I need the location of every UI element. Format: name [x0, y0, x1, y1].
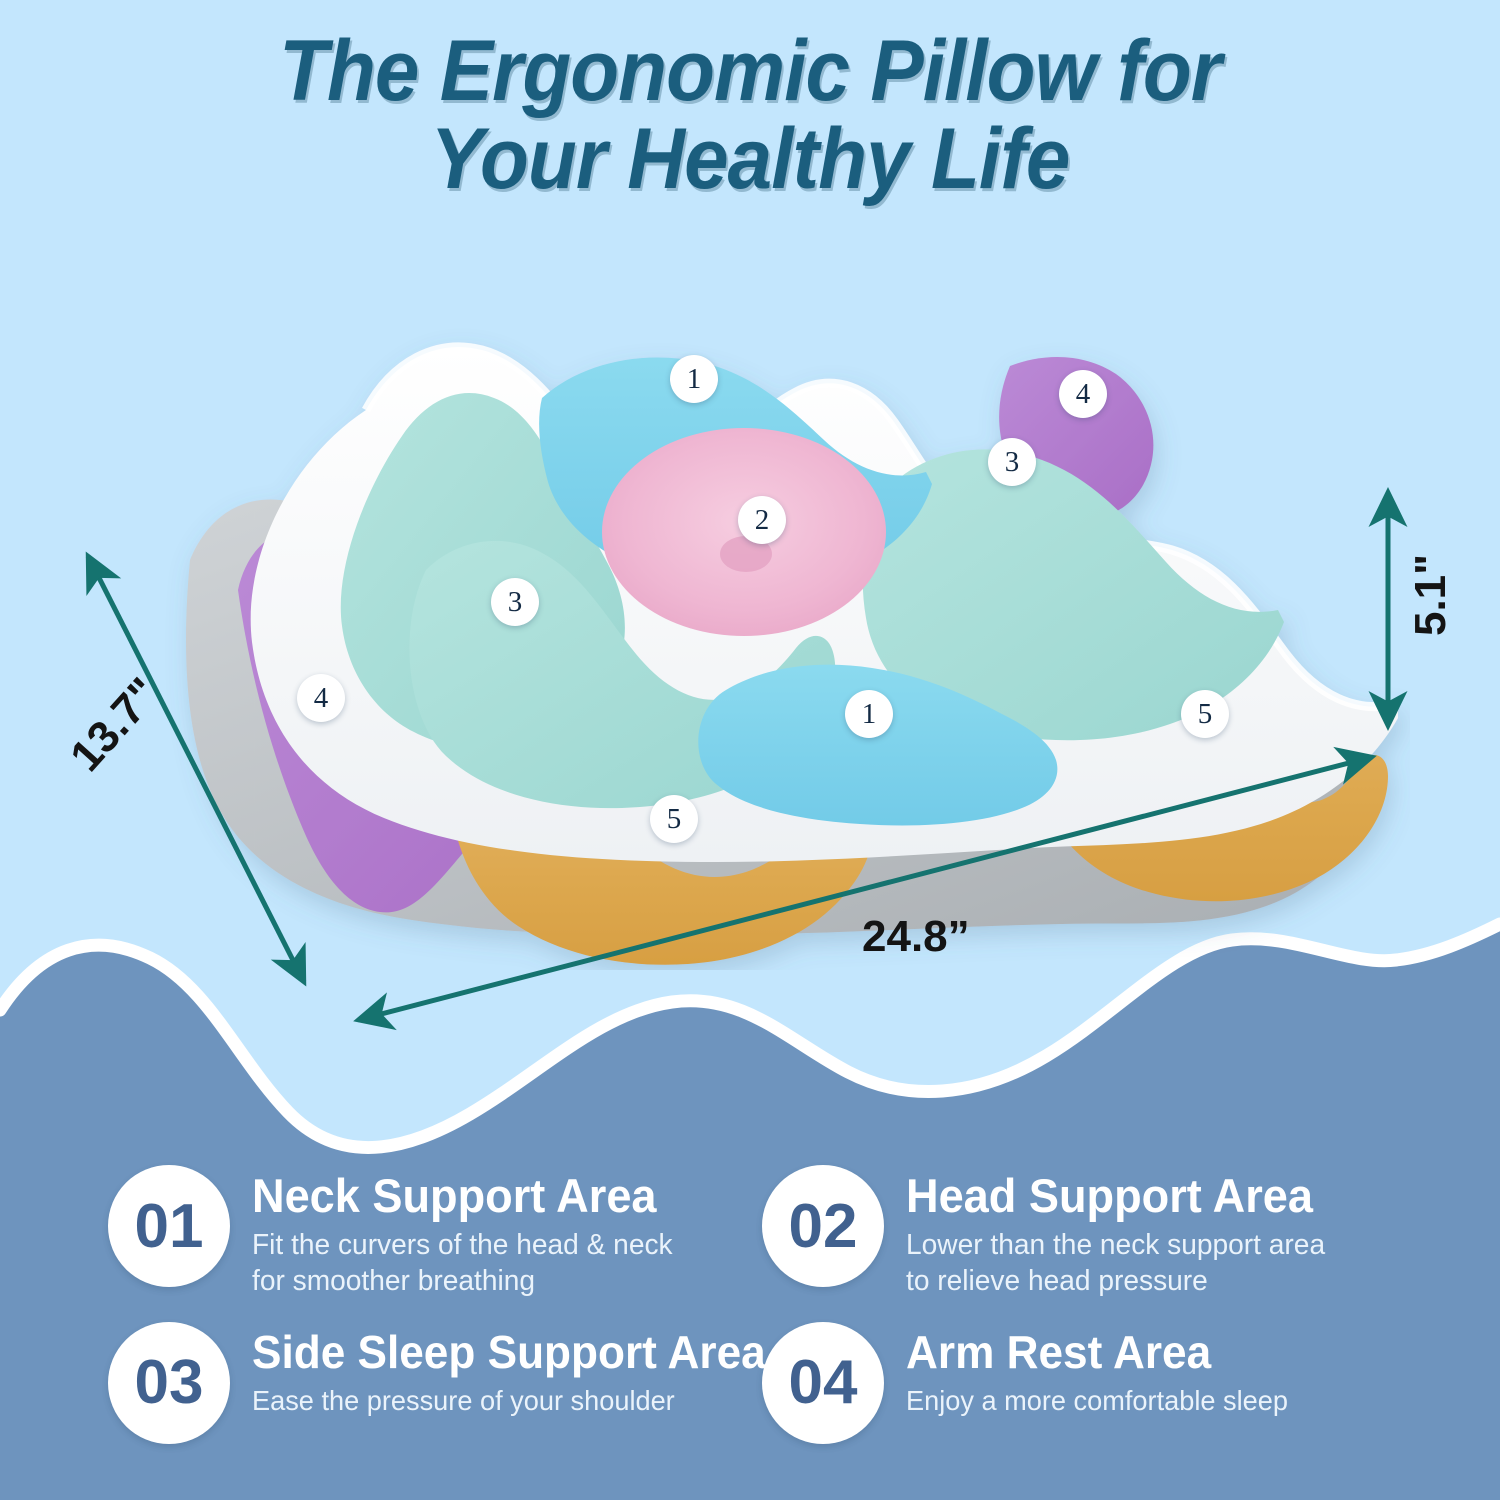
callout-badge-side-sleep-right[interactable]: 3 [988, 438, 1036, 486]
feature-title-03: Side Sleep Support Area [252, 1328, 766, 1377]
width-dimension-label: 24.8” [862, 912, 970, 962]
callout-number: 5 [667, 803, 682, 836]
feature-text-03: Side Sleep Support Area Ease the pressur… [230, 1322, 787, 1418]
feature-text-04: Arm Rest Area Enjoy a more comfortable s… [884, 1322, 1300, 1418]
callout-badge-side-sleep-left[interactable]: 3 [491, 578, 539, 626]
callout-number: 1 [862, 698, 877, 731]
feature-number-badge-04: 04 [762, 1322, 884, 1444]
page-title-line-1: The Ergonomic Pillow for [53, 28, 1448, 116]
feature-desc-01: Fit the curvers of the head & neck for s… [252, 1227, 673, 1300]
feature-card-03[interactable]: 03 Side Sleep Support Area Ease the pres… [0, 1322, 740, 1444]
callout-badge-base-right[interactable]: 5 [1181, 690, 1229, 738]
callout-number: 2 [755, 504, 770, 537]
feature-desc-04: Enjoy a more comfortable sleep [906, 1383, 1288, 1418]
width-dimension-arrow [358, 757, 1372, 1020]
callout-number: 4 [1076, 378, 1091, 411]
feature-number-badge-03: 03 [108, 1322, 230, 1444]
callout-number: 3 [508, 586, 523, 619]
feature-text-02: Head Support Area Lower than the neck su… [884, 1165, 1338, 1300]
feature-text-01: Neck Support Area Fit the curvers of the… [230, 1165, 686, 1300]
feature-number: 04 [789, 1347, 858, 1418]
feature-number: 03 [135, 1347, 204, 1418]
height-dimension-label: 5.1" [1406, 554, 1456, 636]
feature-desc-02: Lower than the neck support area to reli… [906, 1227, 1325, 1300]
callout-badge-base-left[interactable]: 5 [650, 795, 698, 843]
page-title-line-2: Your Healthy Life [53, 116, 1448, 204]
feature-title-02: Head Support Area [906, 1171, 1321, 1221]
feature-number: 02 [789, 1191, 858, 1262]
callout-number: 1 [687, 363, 702, 396]
feature-card-01[interactable]: 01 Neck Support Area Fit the curvers of … [0, 1165, 740, 1300]
feature-card-02[interactable]: 02 Head Support Area Lower than the neck… [740, 1165, 1500, 1300]
feature-number: 01 [135, 1191, 204, 1262]
feature-title-01: Neck Support Area [252, 1171, 668, 1221]
callout-number: 4 [314, 682, 329, 715]
callout-number: 3 [1005, 446, 1020, 479]
callout-badge-arm-rest-left[interactable]: 4 [297, 674, 345, 722]
callout-badge-arm-rest-right[interactable]: 4 [1059, 370, 1107, 418]
callout-badge-neck-support-lower[interactable]: 1 [845, 690, 893, 738]
infographic-page: The Ergonomic Pillow for Your Healthy Li… [0, 0, 1500, 1500]
callout-number: 5 [1198, 698, 1213, 731]
feature-list: 01 Neck Support Area Fit the curvers of … [0, 1165, 1500, 1444]
feature-title-04: Arm Rest Area [906, 1328, 1284, 1377]
feature-number-badge-01: 01 [108, 1165, 230, 1287]
depth-dimension-arrow [88, 556, 304, 982]
page-title: The Ergonomic Pillow for Your Healthy Li… [0, 28, 1500, 203]
callout-badge-head-support[interactable]: 2 [738, 496, 786, 544]
feature-card-04[interactable]: 04 Arm Rest Area Enjoy a more comfortabl… [740, 1322, 1500, 1444]
feature-number-badge-02: 02 [762, 1165, 884, 1287]
callout-badge-neck-support-upper[interactable]: 1 [670, 355, 718, 403]
feature-desc-03: Ease the pressure of your shoulder [252, 1383, 771, 1418]
